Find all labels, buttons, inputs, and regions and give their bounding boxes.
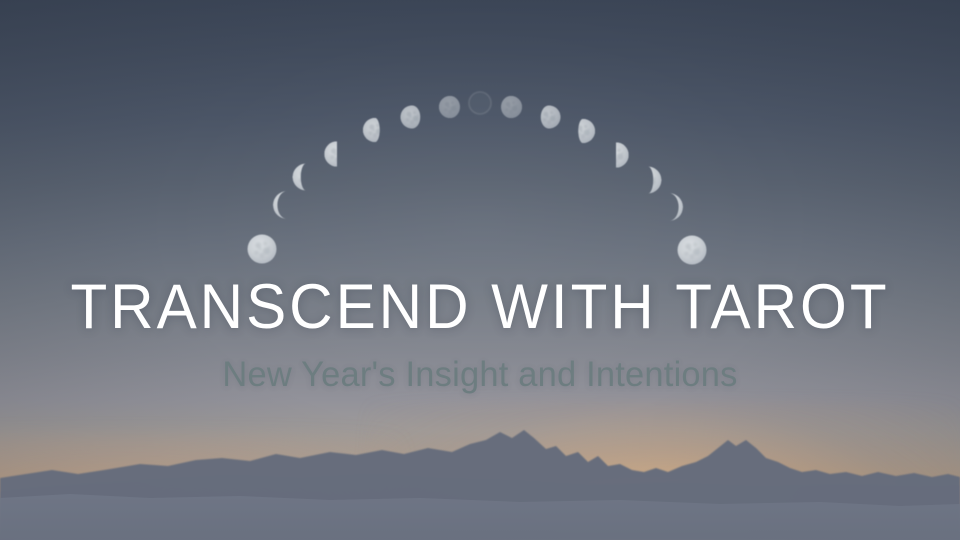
title-block: TRANSCEND WITH TAROT New Year's Insight … bbox=[0, 276, 960, 392]
mountain-ridge-silhouette bbox=[0, 390, 960, 540]
page-subtitle: New Year's Insight and Intentions bbox=[7, 357, 953, 392]
presentation-slide: TRANSCEND WITH TAROT New Year's Insight … bbox=[0, 0, 960, 540]
page-title: TRANSCEND WITH TAROT bbox=[22, 276, 939, 339]
